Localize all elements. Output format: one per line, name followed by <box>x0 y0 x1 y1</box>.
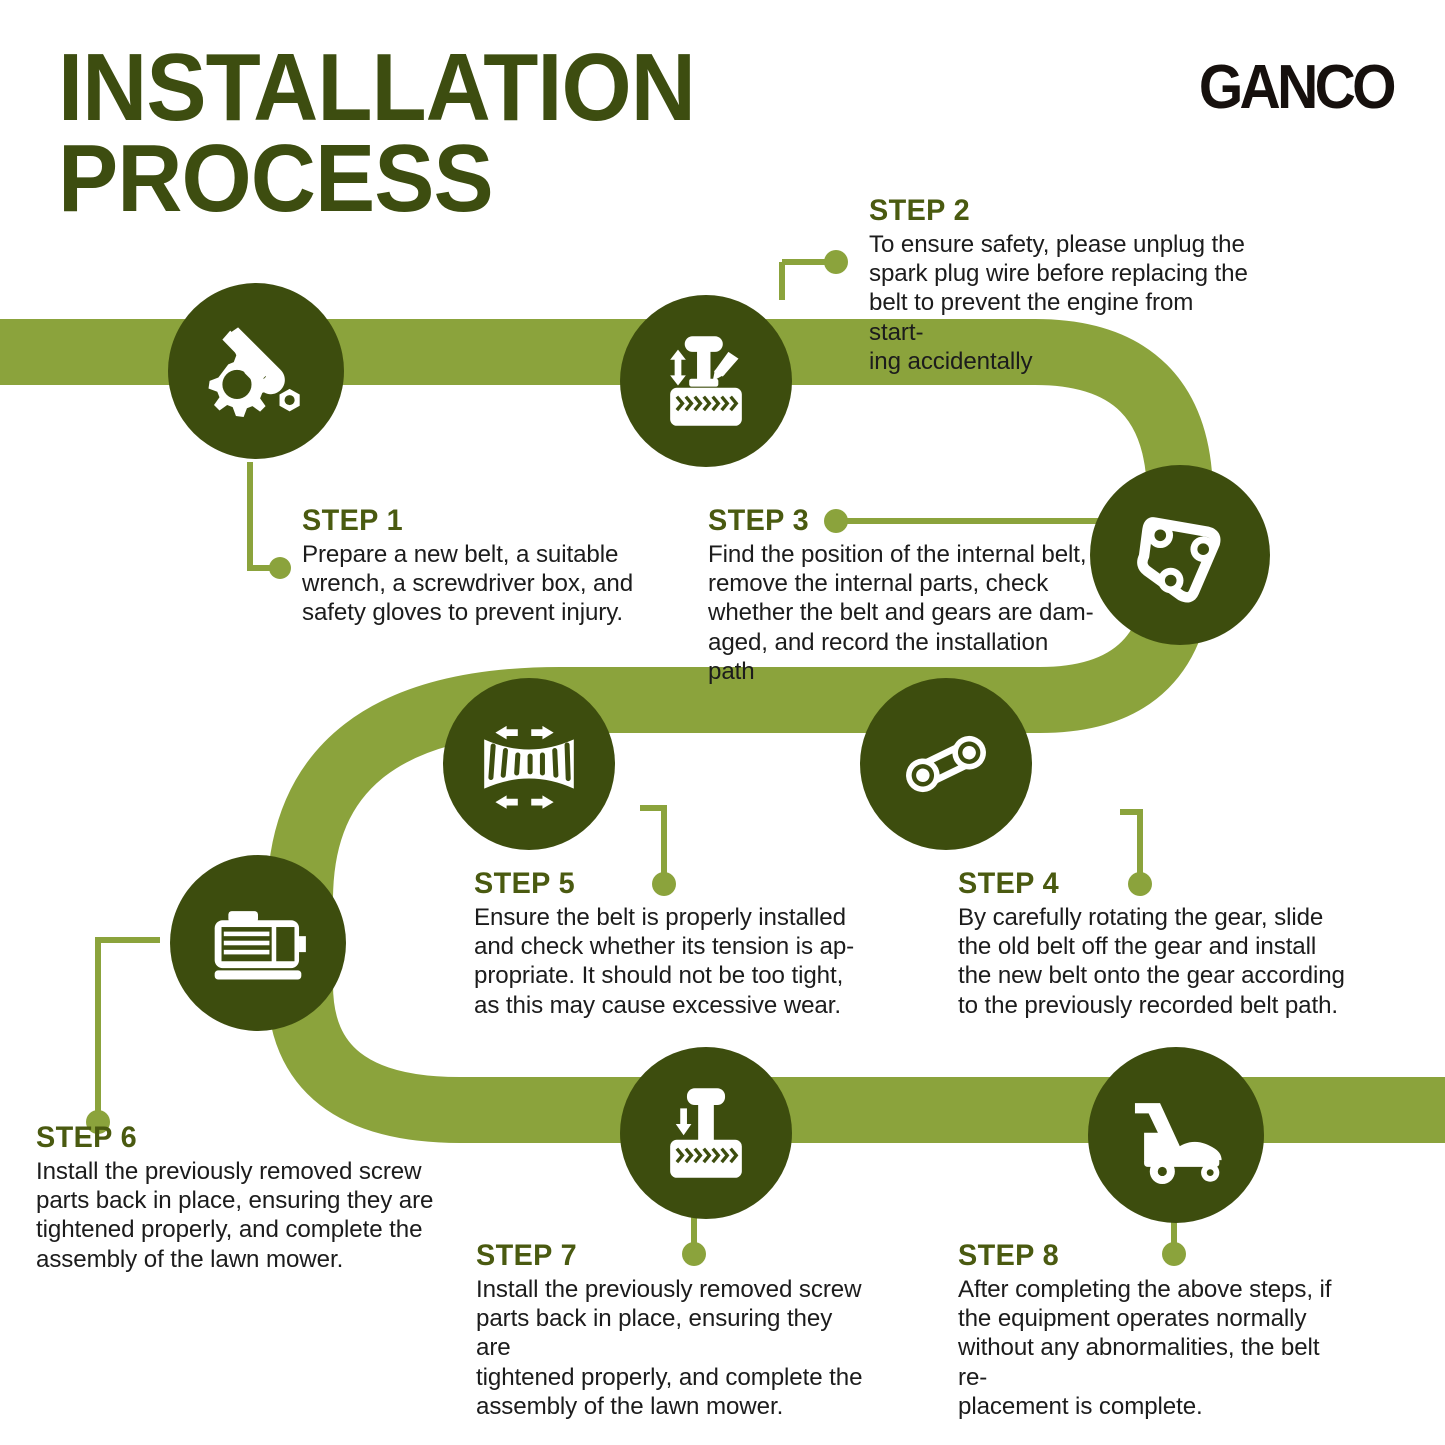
step-8-icon-circle[interactable] <box>1088 1047 1264 1223</box>
spark-plug-unplug-icon <box>650 325 762 437</box>
step-2-icon-circle[interactable] <box>620 295 792 467</box>
infographic-canvas: INSTALLATION PROCESS GANCO <box>0 0 1445 1445</box>
step-7-label: STEP 7 <box>476 1240 860 1272</box>
brand-logo: GANCO <box>1182 52 1393 124</box>
step-7-body: Install the previously removed screw par… <box>476 1275 870 1422</box>
step-3-text: STEP 3 Find the position of the internal… <box>708 505 1103 686</box>
step-2-body: To ensure safety, please unplug the spar… <box>869 230 1253 377</box>
step-8-label: STEP 8 <box>958 1240 1342 1272</box>
step-8-body: After completing the above steps, if the… <box>958 1275 1352 1422</box>
step-3-icon-circle[interactable] <box>1090 465 1270 645</box>
title-line-1: INSTALLATION <box>58 42 885 133</box>
connector-step-2 <box>782 250 848 300</box>
step-7-icon-circle[interactable] <box>620 1047 792 1219</box>
step-5-icon-circle[interactable] <box>443 678 615 850</box>
step-6-text: STEP 6 Install the previously removed sc… <box>36 1122 446 1274</box>
wrench-gear-nut-icon <box>200 315 312 427</box>
step-5-label: STEP 5 <box>474 868 858 900</box>
step-3-label: STEP 3 <box>708 505 1087 537</box>
step-1-icon-circle[interactable] <box>168 283 344 459</box>
connector-step-1 <box>250 462 291 579</box>
step-7-text: STEP 7 Install the previously removed sc… <box>476 1240 876 1421</box>
step-5-text: STEP 5 Ensure the belt is properly insta… <box>474 868 874 1020</box>
spark-plug-insert-icon <box>650 1077 762 1189</box>
lawn-mower-icon <box>1119 1078 1233 1192</box>
step-3-body: Find the position of the internal belt, … <box>708 540 1097 687</box>
page-title: INSTALLATION PROCESS <box>58 42 885 224</box>
two-pulley-belt-icon <box>890 708 1002 820</box>
logo-wordmark: GANCO <box>1199 57 1393 119</box>
step-6-label: STEP 6 <box>36 1122 430 1154</box>
step-1-label: STEP 1 <box>302 505 628 537</box>
step-4-body: By carefully rotating the gear, slide th… <box>958 903 1352 1021</box>
step-4-label: STEP 4 <box>958 868 1342 900</box>
step-6-icon-circle[interactable] <box>170 855 346 1031</box>
step-1-text: STEP 1 Prepare a new belt, a suitable wr… <box>302 505 642 628</box>
step-4-icon-circle[interactable] <box>860 678 1032 850</box>
step-1-body: Prepare a new belt, a suitable wrench, a… <box>302 540 637 628</box>
step-5-body: Ensure the belt is properly installed an… <box>474 903 868 1021</box>
three-pulley-belt-icon <box>1122 497 1238 613</box>
step-8-text: STEP 8 After completing the above steps,… <box>958 1240 1358 1421</box>
step-2-label: STEP 2 <box>869 195 1243 227</box>
connector-step-6 <box>86 940 160 1134</box>
step-4-text: STEP 4 By carefully rotating the gear, s… <box>958 868 1358 1020</box>
step-6-body: Install the previously removed screw par… <box>36 1157 440 1275</box>
title-line-2: PROCESS <box>58 133 885 224</box>
belt-tension-icon <box>473 708 585 820</box>
step-2-text: STEP 2 To ensure safety, please unplug t… <box>869 195 1259 376</box>
electric-motor-icon <box>201 886 315 1000</box>
